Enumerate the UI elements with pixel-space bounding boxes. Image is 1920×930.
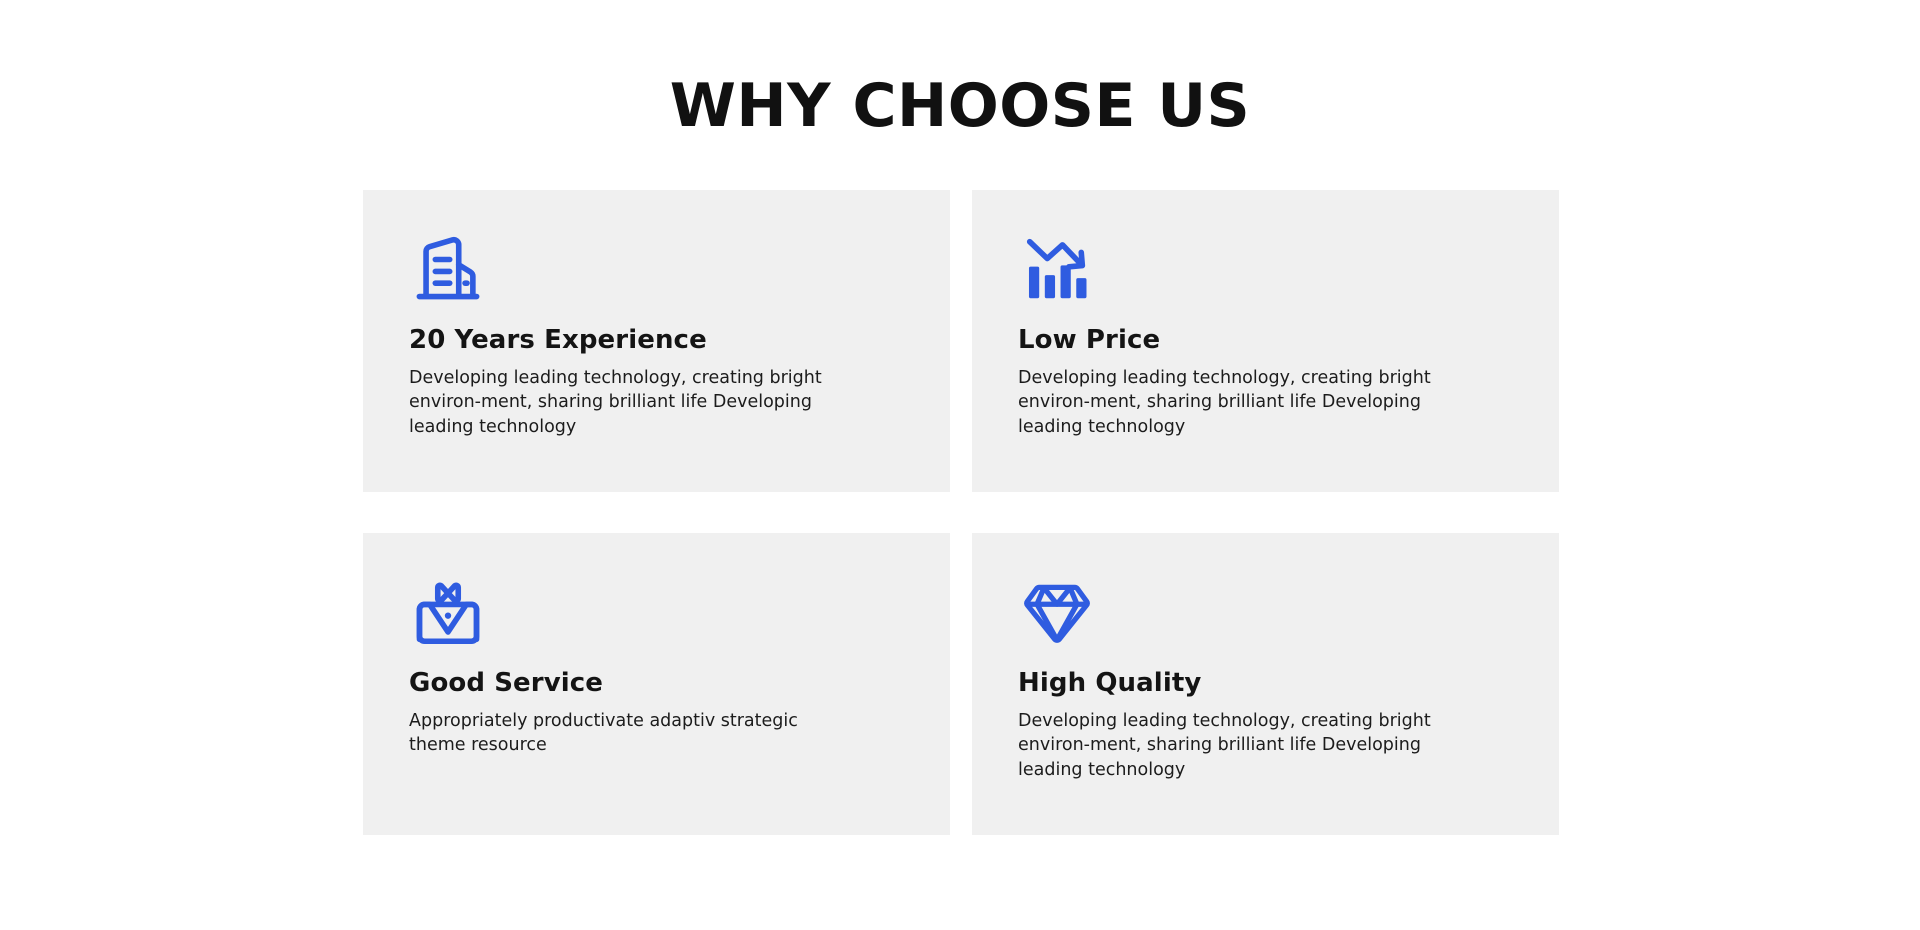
card-title: High Quality	[1018, 669, 1513, 698]
card-description: Developing leading technology, creating …	[1018, 709, 1448, 784]
declining-bar-chart-icon	[1018, 230, 1096, 308]
card-title: 20 Years Experience	[409, 326, 904, 355]
card-description: Appropriately productivate adaptiv strat…	[409, 709, 839, 759]
diamond-icon	[1018, 573, 1096, 651]
card-title: Low Price	[1018, 326, 1513, 355]
feature-card-high-quality[interactable]: High Quality Developing leading technolo…	[972, 533, 1559, 835]
feature-card-low-price[interactable]: Low Price Developing leading technology,…	[972, 190, 1559, 492]
feature-card-experience[interactable]: 20 Years Experience Developing leading t…	[363, 190, 950, 492]
why-choose-us-section: WHY CHOOSE US 20 Years Experience Develo…	[0, 0, 1920, 930]
page-title: WHY CHOOSE US	[0, 76, 1920, 136]
building-icon	[409, 230, 487, 308]
tuxedo-bowtie-icon	[409, 573, 487, 651]
feature-card-grid: 20 Years Experience Developing leading t…	[363, 190, 1559, 835]
feature-card-good-service[interactable]: Good Service Appropriately productivate …	[363, 533, 950, 835]
card-description: Developing leading technology, creating …	[1018, 366, 1448, 441]
card-description: Developing leading technology, creating …	[409, 366, 839, 441]
card-title: Good Service	[409, 669, 904, 698]
